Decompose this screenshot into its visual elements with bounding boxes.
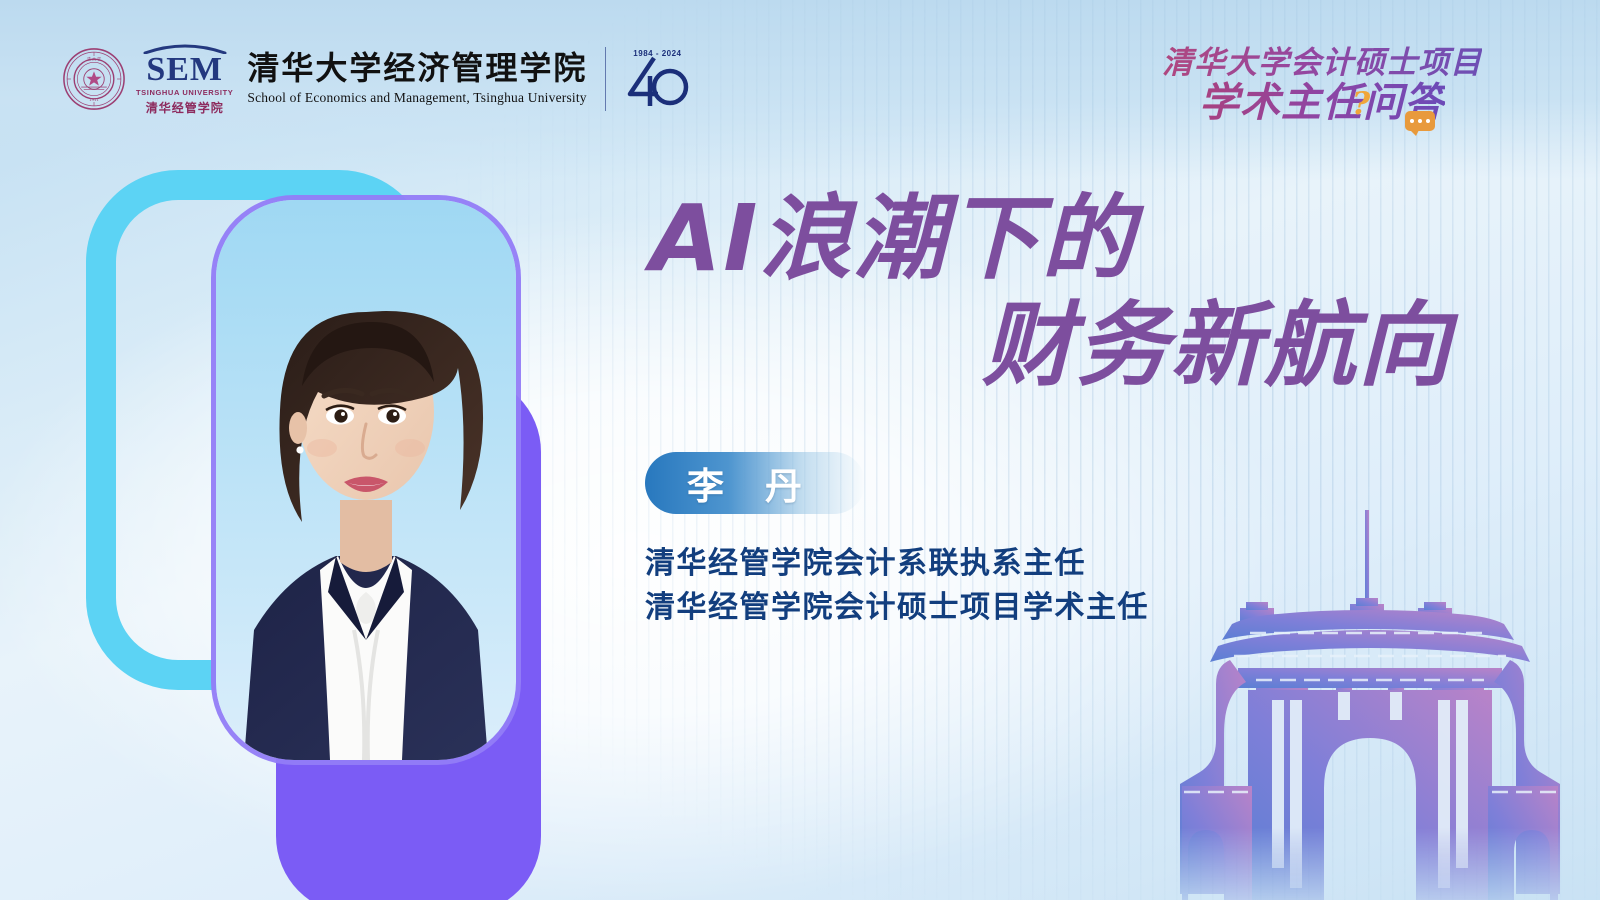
- speaker-photo-frame: [216, 200, 516, 760]
- speech-bubble-icon: [1405, 111, 1435, 131]
- header: 清 大 学 1911 SEM TSINGHUA UNIVERSITY 清华经管学…: [0, 0, 1600, 150]
- sem-chinese-sub: 清华经管学院: [146, 99, 224, 116]
- main-title-line-1: AI浪潮下的: [620, 186, 1470, 293]
- school-name-block: 清华大学经济管理学院 School of Economics and Manag…: [247, 52, 587, 106]
- school-name-cn: 清华大学经济管理学院: [247, 52, 587, 86]
- speaker-title-list: 清华经管学院会计系联执系主任 清华经管学院会计硕士项目学术主任: [645, 542, 1149, 629]
- svg-text:清 大 学: 清 大 学: [87, 56, 101, 61]
- anniversary-40-icon: [624, 54, 690, 110]
- speaker-title-1: 清华经管学院会计系联执系主任: [645, 542, 1149, 586]
- sem-english-sub: TSINGHUA UNIVERSITY: [136, 88, 233, 97]
- speaker-name: 李 丹: [645, 456, 816, 510]
- portrait-composition: [78, 162, 578, 782]
- school-name-en: School of Economics and Management, Tsin…: [247, 90, 587, 106]
- logo-divider: [605, 47, 606, 111]
- svg-text:1911: 1911: [89, 97, 99, 102]
- anniversary-logo: 1984 - 2024: [624, 49, 690, 110]
- speaker-title-2: 清华经管学院会计硕士项目学术主任: [645, 586, 1149, 630]
- main-title-line-2: 财务新航向: [620, 293, 1470, 400]
- speaker-name-badge: 李 丹: [645, 452, 865, 514]
- series-headline: 清华大学会计硕士项目 学术主任问答 ?: [1162, 46, 1482, 126]
- series-line-1: 清华大学会计硕士项目: [1162, 46, 1482, 81]
- sem-wordmark: SEM TSINGHUA UNIVERSITY 清华经管学院: [136, 42, 233, 116]
- sem-abbr: SEM: [146, 54, 223, 86]
- tsinghua-gate-icon: [1160, 500, 1580, 900]
- poster-canvas: 清 大 学 1911 SEM TSINGHUA UNIVERSITY 清华经管学…: [0, 0, 1600, 900]
- question-mark-icon: ?: [1352, 87, 1371, 122]
- speaker-photo: [216, 200, 516, 760]
- main-title: AI浪潮下的 财务新航向: [620, 186, 1470, 399]
- series-line-2: 学术主任问答 ?: [1199, 81, 1445, 126]
- tsinghua-seal-icon: 清 大 学 1911: [62, 47, 126, 111]
- institution-logo-lock: 清 大 学 1911 SEM TSINGHUA UNIVERSITY 清华经管学…: [62, 40, 690, 118]
